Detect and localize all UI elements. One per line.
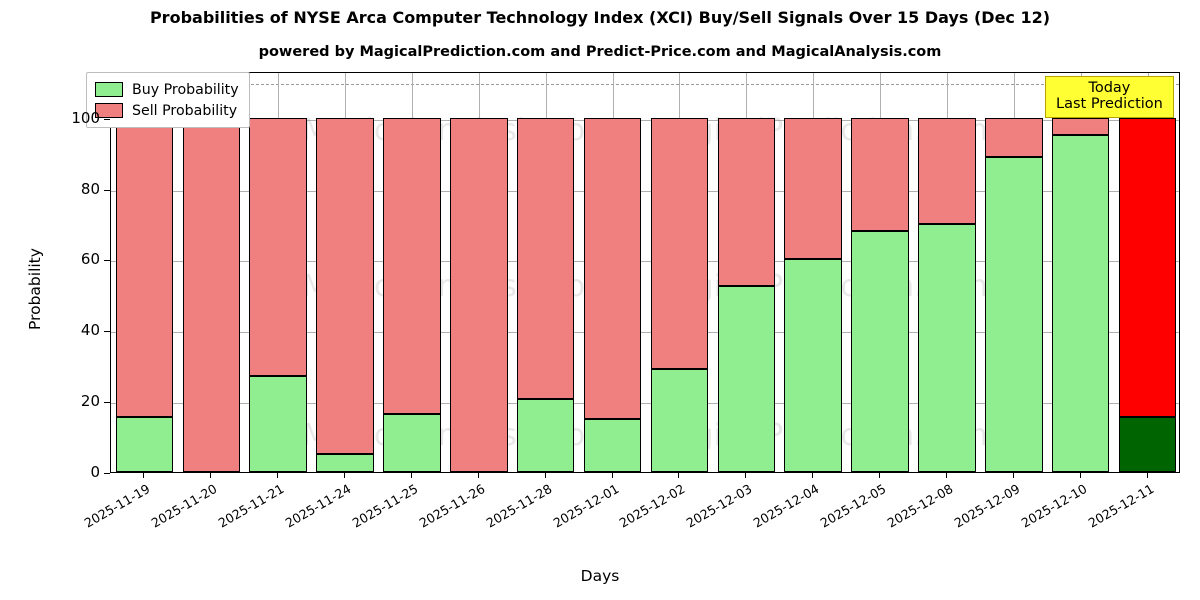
y-tick-mark [104, 473, 110, 474]
bar-segment-buy[interactable] [584, 419, 642, 472]
legend-item-sell: Sell Probability [95, 100, 239, 121]
x-tick-mark [678, 473, 679, 478]
bar-segment-sell[interactable] [584, 118, 642, 419]
bar-2025-12-03[interactable] [718, 73, 776, 472]
x-tick-mark [277, 473, 278, 478]
bar-segment-sell[interactable] [851, 118, 909, 231]
bar-segment-buy[interactable] [517, 399, 575, 472]
y-tick-label-80: 80 [20, 180, 100, 198]
bar-segment-buy[interactable] [985, 157, 1043, 472]
bar-segment-buy[interactable] [784, 259, 842, 472]
bar-2025-12-10[interactable] [1052, 73, 1110, 472]
bar-2025-12-02[interactable] [651, 73, 709, 472]
x-tick-mark [545, 473, 546, 478]
bar-2025-12-08[interactable] [918, 73, 976, 472]
y-tick-label-20: 20 [20, 392, 100, 410]
bar-segment-sell[interactable] [316, 118, 374, 455]
today-label-line1: Today [1056, 80, 1163, 96]
bar-segment-sell[interactable] [784, 118, 842, 260]
bar-segment-sell[interactable] [383, 118, 441, 414]
bar-2025-12-01[interactable] [584, 73, 642, 472]
x-tick-mark [1147, 473, 1148, 478]
x-tick-mark [1013, 473, 1014, 478]
legend: Buy Probability Sell Probability [86, 72, 250, 128]
bar-2025-11-26[interactable] [450, 73, 508, 472]
bar-2025-12-09[interactable] [985, 73, 1043, 472]
x-tick-mark [344, 473, 345, 478]
bar-segment-sell[interactable] [718, 118, 776, 286]
bar-2025-11-25[interactable] [383, 73, 441, 472]
chart-title: Probabilities of NYSE Arca Computer Tech… [0, 8, 1200, 27]
bar-segment-sell[interactable] [1052, 118, 1110, 136]
bar-segment-sell[interactable] [985, 118, 1043, 157]
bar-segment-sell[interactable] [116, 118, 174, 417]
bar-segment-buy[interactable] [316, 454, 374, 472]
y-tick-label-0: 0 [20, 463, 100, 481]
x-tick-mark [210, 473, 211, 478]
x-axis-label: Days [0, 567, 1200, 585]
bar-segment-buy[interactable] [249, 376, 307, 472]
chart-subtitle: powered by MagicalPrediction.com and Pre… [0, 44, 1200, 60]
bar-segment-sell[interactable] [918, 118, 976, 224]
bar-segment-buy[interactable] [851, 231, 909, 472]
bar-2025-11-19[interactable] [116, 73, 174, 472]
x-tick-mark [946, 473, 947, 478]
bar-2025-11-28[interactable] [517, 73, 575, 472]
x-tick-mark [411, 473, 412, 478]
bar-segment-sell[interactable] [1119, 118, 1177, 417]
y-tick-label-40: 40 [20, 321, 100, 339]
legend-label-sell: Sell Probability [132, 103, 237, 119]
bar-segment-buy[interactable] [651, 369, 709, 472]
bar-segment-buy[interactable] [1119, 417, 1177, 472]
x-tick-mark [1080, 473, 1081, 478]
y-tick-mark [104, 119, 110, 120]
y-tick-mark [104, 260, 110, 261]
y-tick-mark [104, 331, 110, 332]
bar-2025-12-04[interactable] [784, 73, 842, 472]
legend-swatch-buy [95, 82, 123, 97]
bar-2025-11-20[interactable] [183, 73, 241, 472]
bar-segment-buy[interactable] [116, 417, 174, 472]
x-tick-mark [143, 473, 144, 478]
bar-segment-sell[interactable] [183, 118, 241, 472]
bar-2025-12-05[interactable] [851, 73, 909, 472]
bar-segment-buy[interactable] [918, 224, 976, 472]
plot-area: MagicalAnalysis.comMagicalPrediction.com… [110, 72, 1180, 473]
bar-segment-sell[interactable] [651, 118, 709, 370]
bar-segment-sell[interactable] [249, 118, 307, 377]
x-tick-mark [745, 473, 746, 478]
bar-segment-buy[interactable] [1052, 135, 1110, 472]
x-tick-mark [812, 473, 813, 478]
x-tick-mark [879, 473, 880, 478]
y-tick-mark [104, 190, 110, 191]
bar-2025-11-24[interactable] [316, 73, 374, 472]
y-tick-mark [104, 402, 110, 403]
today-annotation: Today Last Prediction [1045, 76, 1174, 118]
bar-2025-12-11[interactable] [1119, 73, 1177, 472]
bar-segment-buy[interactable] [718, 286, 776, 472]
bar-2025-11-21[interactable] [249, 73, 307, 472]
y-tick-label-60: 60 [20, 250, 100, 268]
x-tick-mark [478, 473, 479, 478]
x-tick-mark [612, 473, 613, 478]
bar-segment-sell[interactable] [517, 118, 575, 400]
plot-inner: MagicalAnalysis.comMagicalPrediction.com… [111, 73, 1179, 472]
legend-label-buy: Buy Probability [132, 82, 239, 98]
chart-root: Probabilities of NYSE Arca Computer Tech… [0, 0, 1200, 600]
bar-segment-sell[interactable] [450, 118, 508, 472]
legend-item-buy: Buy Probability [95, 79, 239, 100]
today-label-line2: Last Prediction [1056, 96, 1163, 112]
bar-segment-buy[interactable] [383, 414, 441, 472]
y-tick-label-100: 100 [20, 109, 100, 127]
